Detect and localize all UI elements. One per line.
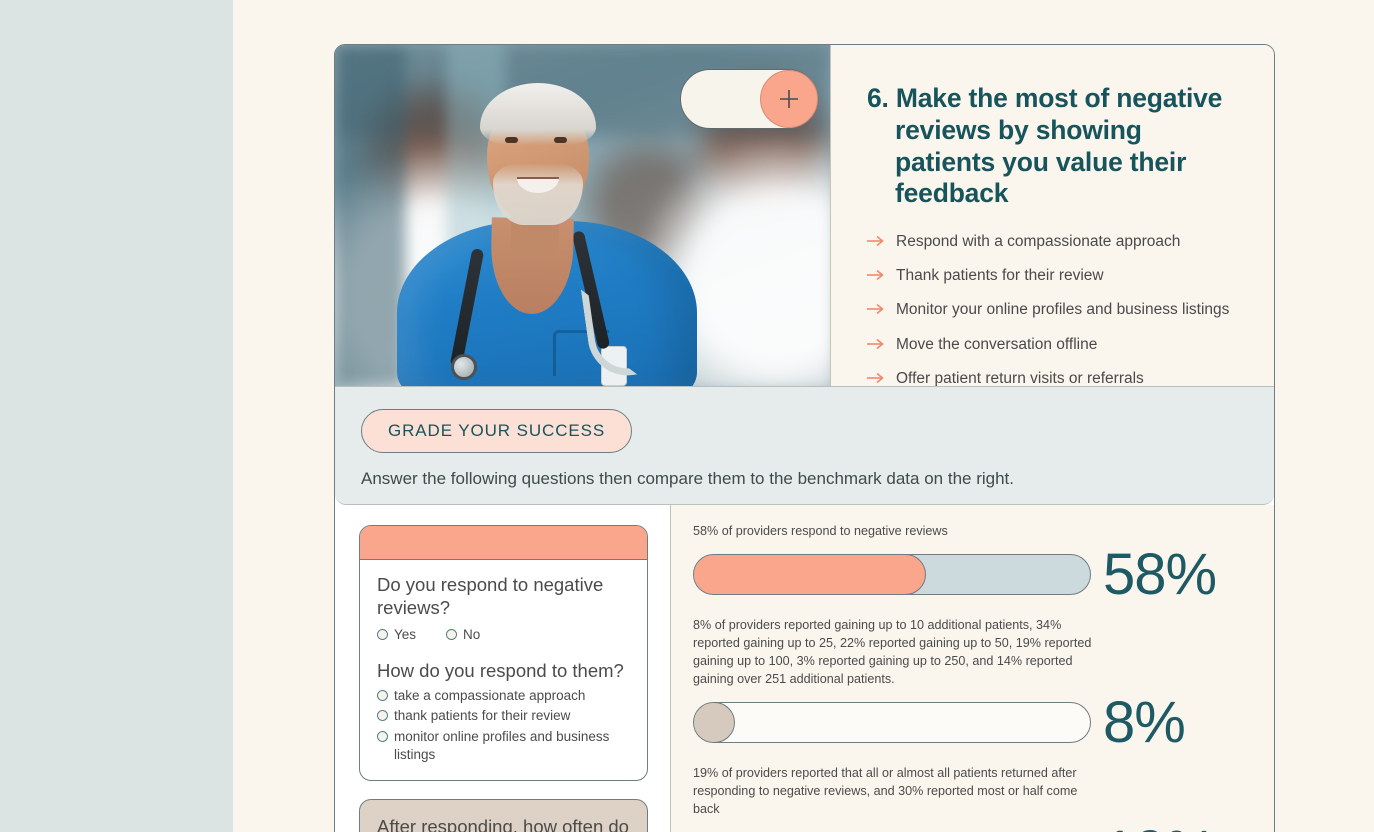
stat-value: 19% (1103, 826, 1216, 832)
radio-option-thank[interactable]: thank patients for their review (377, 707, 630, 725)
stat-row: 19% (693, 826, 1254, 832)
list-item: Respond with a compassionate approach (867, 232, 1242, 252)
stat-value: 58% (1103, 549, 1216, 601)
add-toggle-button[interactable] (680, 69, 818, 129)
spacer (377, 644, 630, 660)
list-item: Monitor your online profiles and busines… (867, 300, 1242, 320)
radio-option-compassionate[interactable]: take a compassionate approach (377, 687, 630, 705)
arrow-right-icon (867, 338, 885, 350)
benchmark-column: 58% of providers respond to negative rev… (671, 505, 1274, 832)
yes-no-radio-group[interactable]: Yes No (377, 623, 630, 644)
list-item-label: Move the conversation offline (896, 335, 1097, 355)
radio-circle-icon[interactable] (377, 629, 388, 640)
arrow-right-icon (867, 269, 885, 281)
stat-value: 8% (1103, 697, 1185, 749)
doctor-photo (335, 45, 830, 386)
left-side-rail (0, 0, 233, 832)
stat-caption: 19% of providers reported that all or al… (693, 765, 1093, 819)
radio-label: take a compassionate approach (394, 687, 585, 705)
progress-bar-track (693, 702, 1091, 743)
questions-column: Do you respond to negative reviews? Yes … (335, 505, 671, 832)
hero-text-column: 6. Make the most of negative reviews by … (830, 45, 1274, 386)
tips-list: Respond with a compassionate approach Th… (867, 232, 1242, 389)
stat-caption: 58% of providers respond to negative rev… (693, 523, 1093, 541)
radio-circle-icon[interactable] (377, 710, 388, 721)
list-item-label: Monitor your online profiles and busines… (896, 300, 1229, 320)
question-card-body: After responding, how often do patients … (360, 800, 647, 832)
page-title: 6. Make the most of negative reviews by … (867, 83, 1242, 210)
card-accent-strip (360, 526, 647, 560)
radio-option-no[interactable]: No (446, 626, 480, 644)
benchmark-stat: 8% of providers reported gaining up to 1… (693, 617, 1254, 749)
beard-shape (493, 163, 583, 225)
radio-option-monitor[interactable]: monitor online profiles and business lis… (377, 728, 630, 764)
radio-circle-icon[interactable] (446, 629, 457, 640)
right-eye (554, 137, 567, 143)
grade-instructions: Answer the following questions then comp… (361, 469, 1248, 489)
radio-circle-icon[interactable] (377, 731, 388, 742)
benchmark-stat: 19% of providers reported that all or al… (693, 765, 1254, 832)
question-label-how: How do you respond to them? (377, 660, 630, 683)
question-label-return: After responding, how often do patients … (377, 816, 630, 832)
progress-bar-track (693, 554, 1091, 595)
hero-section: 6. Make the most of negative reviews by … (335, 45, 1274, 386)
radio-label: monitor online profiles and business lis… (394, 728, 630, 764)
stat-caption: 8% of providers reported gaining up to 1… (693, 617, 1093, 689)
list-item: Move the conversation offline (867, 335, 1242, 355)
list-item-label: Respond with a compassionate approach (896, 232, 1180, 252)
grade-your-success-band: GRADE YOUR SUCCESS Answer the following … (335, 386, 1274, 505)
radio-circle-icon[interactable] (377, 690, 388, 701)
question-card-respond: Do you respond to negative reviews? Yes … (359, 525, 648, 781)
arrow-right-icon (867, 235, 885, 247)
benchmark-stat: 58% of providers respond to negative rev… (693, 523, 1254, 601)
worksheet-card: 6. Make the most of negative reviews by … (334, 44, 1275, 832)
progress-bar-fill (693, 554, 926, 595)
left-eye (505, 137, 518, 143)
page-root: 6. Make the most of negative reviews by … (0, 0, 1374, 832)
arrow-right-icon (867, 372, 885, 384)
stat-row: 58% (693, 549, 1254, 601)
radio-label: thank patients for their review (394, 707, 570, 725)
hair-shape (480, 83, 596, 145)
radio-label: Yes (394, 626, 416, 644)
radio-label: No (463, 626, 480, 644)
arrow-right-icon (867, 303, 885, 315)
progress-bar-fill (693, 702, 735, 743)
stat-row: 8% (693, 697, 1254, 749)
plus-icon[interactable] (760, 70, 818, 128)
list-item-label: Thank patients for their review (896, 266, 1104, 286)
radio-option-yes[interactable]: Yes (377, 626, 416, 644)
lower-section: Do you respond to negative reviews? Yes … (335, 505, 1274, 832)
stethoscope-bell (451, 354, 477, 380)
list-item: Thank patients for their review (867, 266, 1242, 286)
status-badge: GRADE YOUR SUCCESS (361, 409, 632, 453)
question-card-body: Do you respond to negative reviews? Yes … (360, 560, 647, 780)
question-label: Do you respond to negative reviews? (377, 574, 630, 619)
question-card-return: After responding, how often do patients … (359, 799, 648, 832)
